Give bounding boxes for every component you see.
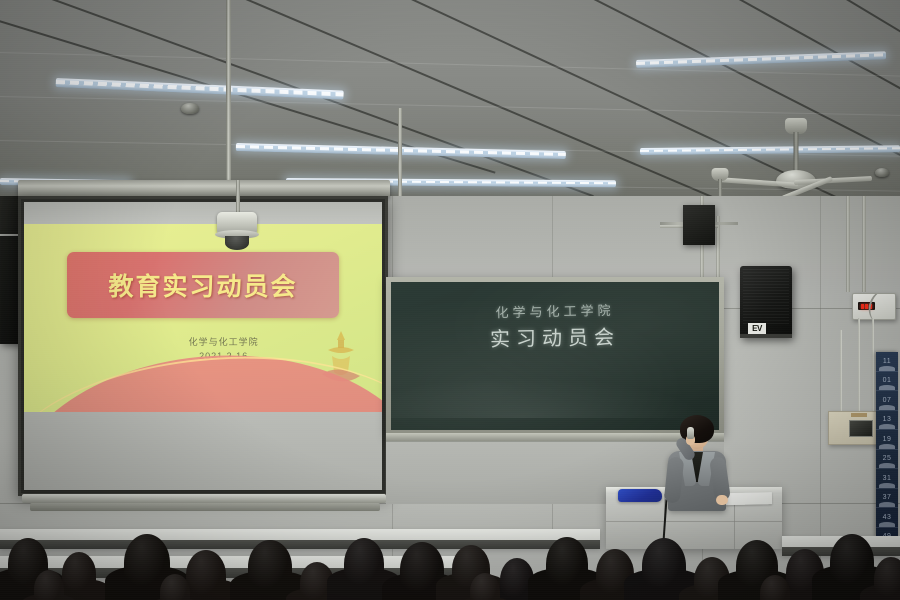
fluorescent-tube [636, 51, 886, 68]
audience-row [0, 512, 900, 600]
presenter [660, 415, 734, 511]
alarm-wire [858, 318, 860, 412]
blackboard: 化学与化工学院 实习动员会 [386, 277, 724, 435]
audience-head [248, 540, 292, 594]
alarm-wire [872, 318, 874, 412]
ceiling-support-pole [226, 0, 231, 200]
lecture-hall-photo: EV 11010713192531374349 教育实习动员会 化学与化工学院 … [0, 0, 900, 600]
slide-title-banner: 教育实习动员会 [67, 252, 339, 318]
strip-cell-6: 31 [876, 469, 898, 489]
strip-cell-label: 13 [883, 416, 892, 423]
audience-head [874, 557, 900, 600]
alarm-panel[interactable] [852, 293, 896, 320]
strip-cell-7: 37 [876, 489, 898, 509]
strip-cell-label: 25 [883, 455, 892, 462]
strip-cell-label: 31 [883, 475, 892, 482]
smoke-detector-icon [181, 103, 199, 114]
wall-speaker: EV [740, 266, 792, 338]
alarm-wire [840, 330, 842, 412]
audience-head [34, 570, 64, 600]
blackboard-line-2: 实习动员会 [490, 321, 620, 352]
slide-title: 教育实习动员会 [108, 267, 297, 303]
alarm-decor-icon [864, 293, 896, 320]
speaker-brand-label: EV [748, 323, 766, 334]
camera-pole [236, 180, 240, 214]
projection-screen: 教育实习动员会 化学与化工学院 2021.3.16 [18, 196, 388, 496]
strip-cell-label: 01 [883, 377, 892, 384]
strip-cell-label: 37 [883, 494, 892, 501]
smoke-detector-icon [875, 168, 889, 177]
screen-blank-area [24, 412, 382, 490]
strip-cell-label: 11 [883, 358, 891, 365]
strip-cell-3: 13 [876, 411, 898, 431]
audience-head [186, 550, 226, 600]
screen-bottom-bar-shadow [30, 503, 380, 511]
audience-head [344, 538, 384, 590]
blue-cloth-item [618, 489, 662, 502]
strip-cell-4: 19 [876, 430, 898, 450]
numbered-wall-strip: 11010713192531374349 [876, 352, 898, 537]
blackboard-line-1: 化学与化工学院 [495, 300, 614, 321]
wall-box-tag-icon [851, 413, 867, 417]
screen-bottom-bar [22, 494, 386, 503]
strip-cell-5: 25 [876, 450, 898, 470]
projection-screen-roller [18, 180, 390, 197]
dome-camera-icon [213, 212, 261, 250]
strip-cell-2: 07 [876, 391, 898, 411]
handheld-microphone-icon [687, 427, 694, 439]
strip-cell-label: 19 [883, 436, 892, 443]
audience-head [62, 552, 96, 596]
presentation-slide: 教育实习动员会 化学与化工学院 2021.3.16 [24, 224, 382, 424]
projector-box [683, 205, 715, 245]
strip-cell-1: 01 [876, 372, 898, 392]
wall-box-window-icon [849, 420, 873, 437]
strip-cell-label: 07 [883, 397, 892, 404]
slide-subtitle-org: 化学与化工学院 [189, 336, 259, 350]
strip-cell-0: 11 [876, 352, 898, 372]
speaker-grille-icon [743, 269, 789, 324]
audience-head [642, 538, 686, 594]
audience-head [830, 534, 874, 590]
ceiling-support-pole [398, 108, 402, 200]
audience-head [546, 537, 588, 591]
